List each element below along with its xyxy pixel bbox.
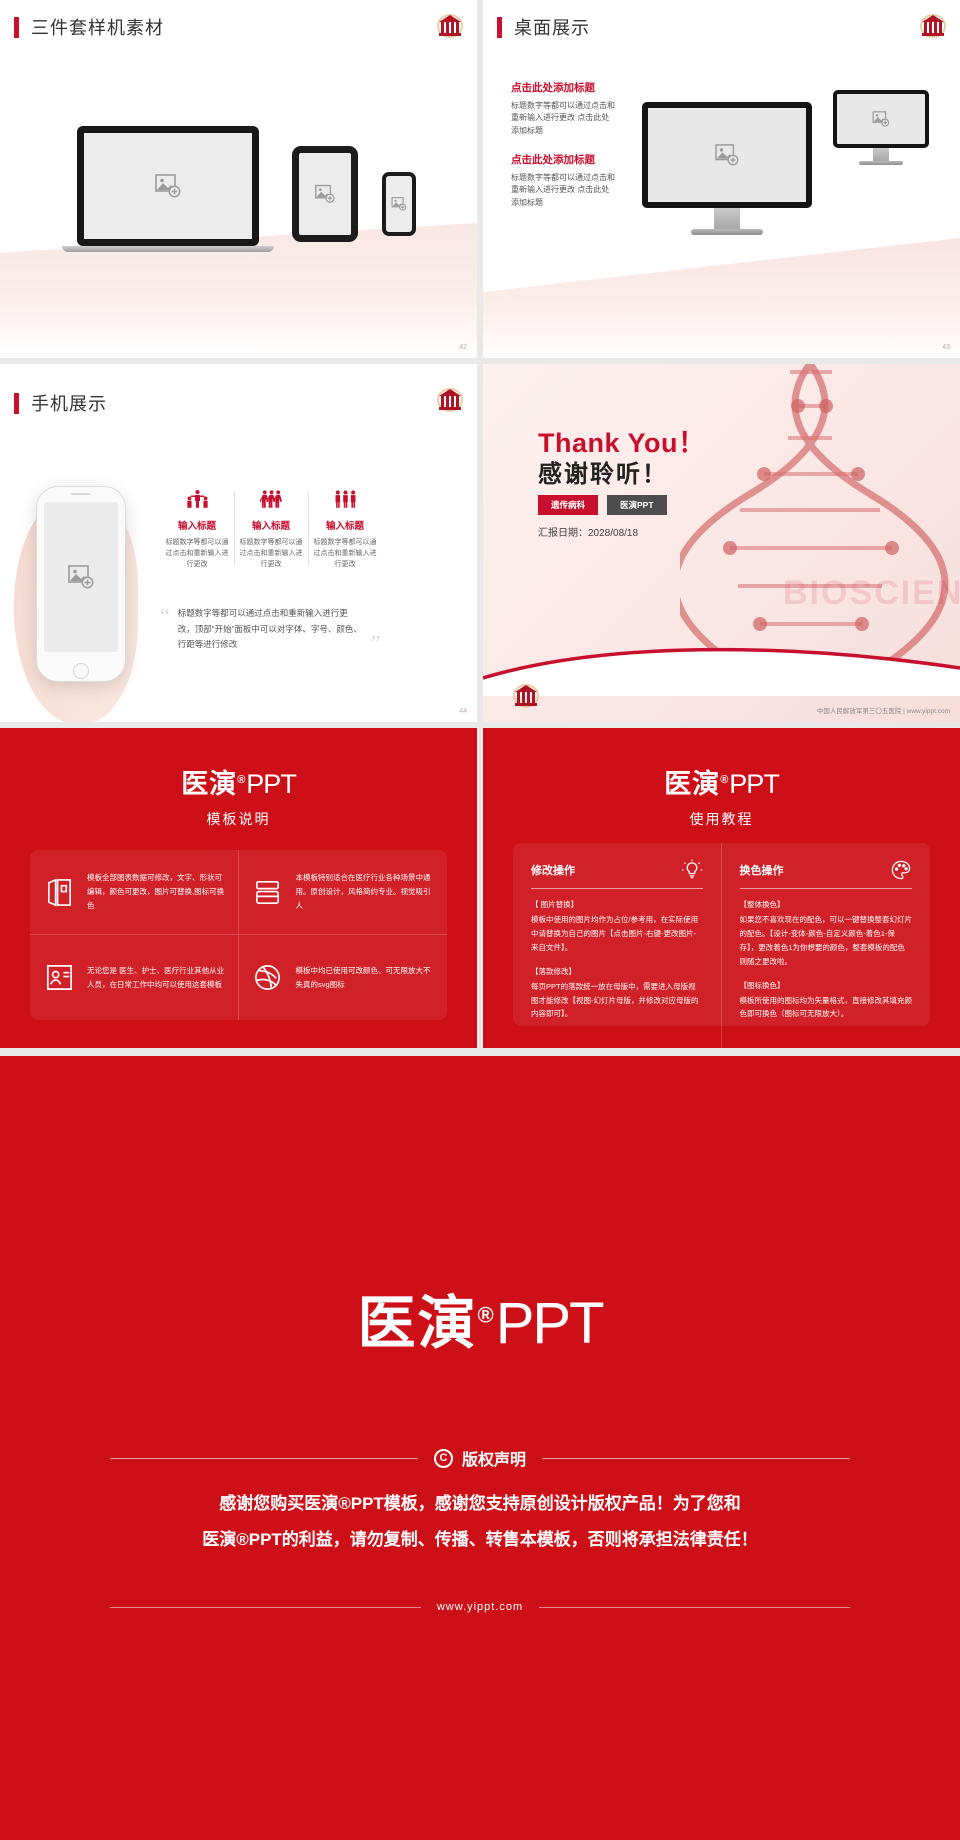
column-divider (531, 888, 703, 889)
brand-ppt: PPT (246, 769, 296, 799)
text-block-heading: 点击此处添加标题 (511, 152, 615, 167)
copyright-badge: C 版权声明 (434, 1446, 526, 1470)
brand-logo-large: 医演®PPT (0, 1276, 960, 1360)
brand-cn: 医演 (181, 769, 237, 799)
title-accent-bar (14, 17, 19, 38)
feature-heading: 输入标题 (312, 518, 378, 532)
tutorial-block: 【 图片替换】 模板中使用的图片均作为占位/参考用，在实际使用中请替换为自己的图… (531, 899, 703, 955)
hospital-emblem-icon (513, 684, 539, 708)
hand-held-phone-mockup (36, 486, 126, 682)
grid-cell-text: 无论您是 医生、护士、医疗行业其他从业人员，在日常工作中均可以使用这套模板 (87, 964, 226, 992)
hospital-emblem-icon (437, 14, 463, 38)
grid-cell-text: 模板全部图表数据可修改，文字、形状可编辑，颜色可更改，图片可替换,图标可换色 (87, 871, 226, 913)
title-accent-bar (497, 17, 502, 38)
page-title: 三件套样机素材 (31, 14, 164, 40)
feature-body: 标题数字等都可以通过点击和重新输入进行更改 (312, 537, 378, 571)
divider-line-right (539, 1607, 850, 1608)
page-title: 手机展示 (31, 390, 107, 416)
slide-thank-you[interactable]: BIOSCIENCE Thank You！ 感谢聆听！ 遗传病科 医演PPT 汇… (483, 364, 960, 722)
divider-line-left (110, 1458, 418, 1459)
three-people-icon (312, 486, 378, 512)
brand-cn: 医演 (357, 1291, 477, 1356)
column-title: 换色操作 (740, 862, 784, 878)
feature-body: 标题数字等都可以通过点击和重新输入进行更改 (164, 537, 230, 571)
feature-body: 标题数字等都可以通过点击和重新输入进行更改 (238, 537, 304, 571)
palette-icon (890, 859, 912, 881)
tutorial-block-body: 如果您不喜欢现在的配色，可以一键替换整套幻灯片的配色。【设计-变体-颜色-自定义… (740, 913, 913, 969)
brand-logo: 医演®PPT (483, 762, 960, 801)
tutorial-columns: 修改操作 【 图片替换】 模板中使用的图片均作为占位/参考用，在实际使用中请替换… (513, 843, 930, 1026)
image-placeholder-icon (392, 197, 407, 211)
grid-cell[interactable]: 本模板特别适合在医疗行业各种场景中通用。原创设计，风格简约专业。视觉吸引人 (239, 850, 448, 935)
drawer-icon (251, 875, 285, 909)
brand-logo: 医演®PPT (0, 762, 477, 801)
page-number: 42 (459, 344, 467, 351)
tutorial-column-recolor[interactable]: 换色操作 【整体换色】 如果您不喜欢现在的配色，可以一键替换整套幻灯片的配色。【… (722, 843, 931, 1048)
bioscience-watermark: BIOSCIENCE (783, 574, 960, 613)
quote-open-mark: “ (160, 606, 170, 626)
tutorial-block-body: 每页PPT的落款统一放在母版中，需要进入母版视图才能修改【视图-幻灯片母版，并修… (531, 980, 703, 1022)
slide-title-group: 桌面展示 (497, 14, 590, 40)
grid-cell[interactable]: 无论您是 医生、护士、医疗行业其他从业人员，在日常工作中均可以使用这套模板 (30, 935, 239, 1020)
slide-phone-showcase[interactable]: 手机展示 输入标题 (0, 364, 477, 722)
copyright-header-row: C 版权声明 (110, 1446, 850, 1470)
website-url[interactable]: www.yippt.com (437, 1601, 523, 1613)
grid-cell[interactable]: 模板中均已使用可改颜色、可无限放大不失真的svg图标 (239, 935, 448, 1020)
slide-usage-tutorial[interactable]: 医演®PPT 使用教程 修改操作 【 图片替换】 模板中使用的图片均作为占位/参… (483, 728, 960, 1048)
image-placeholder-icon (155, 174, 181, 198)
slide-title-group: 三件套样机素材 (14, 14, 164, 40)
brand-registered-mark: ® (477, 1303, 495, 1328)
tutorial-block-title: 【落款修改】 (531, 966, 703, 977)
tutorial-block: 【落款修改】 每页PPT的落款统一放在母版中，需要进入母版视图才能修改【视图-幻… (531, 966, 703, 1022)
home-button-icon (73, 663, 89, 679)
text-block-1: 点击此处添加标题 标题数字等都可以通过点击和重新输入进行更改 点击此处添加标题 (511, 80, 615, 137)
hospital-emblem-icon (437, 388, 463, 412)
brand-registered-mark: ® (237, 774, 246, 786)
people-group-icon (238, 486, 304, 512)
dna-helix-graphic (680, 364, 960, 664)
pink-floor-shape (483, 238, 960, 358)
report-date: 汇报日期：2028/08/18 (538, 524, 638, 539)
brand-ppt: PPT (496, 1291, 603, 1356)
feature-item[interactable]: 输入标题 标题数字等都可以通过点击和重新输入进行更改 (234, 486, 308, 571)
slide-title-group: 手机展示 (14, 390, 107, 416)
copyright-body: 感谢您购买医演®PPT模板，感谢您支持原创设计版权产品！为了您和 医演®PPT的… (120, 1486, 840, 1557)
tag-department[interactable]: 遗传病科 (538, 495, 598, 515)
feature-item[interactable]: 输入标题 标题数字等都可以通过点击和重新输入进行更改 (160, 486, 234, 571)
page-number: 44 (459, 708, 467, 715)
image-placeholder-icon (873, 111, 890, 127)
team-leader-icon (164, 486, 230, 512)
website-row: www.yippt.com (110, 1601, 850, 1613)
image-placeholder-icon (315, 185, 335, 204)
copyright-line-1: 感谢您购买医演®PPT模板，感谢您支持原创设计版权产品！为了您和 (120, 1486, 840, 1522)
tutorial-block-title: 【整体换色】 (740, 899, 913, 910)
slide-desktop-showcase[interactable]: 桌面展示 点击此处添加标题 标题数字等都可以通过点击和重新输入进行更改 点击此处… (483, 0, 960, 358)
page-title: 桌面展示 (514, 14, 590, 40)
column-divider (740, 888, 913, 889)
desktop-monitor-large (642, 102, 812, 235)
text-block-2: 点击此处添加标题 标题数字等都可以通过点击和重新输入进行更改 点击此处添加标题 (511, 152, 615, 209)
tutorial-block: 【图标换色】 模板所使用的图标均为矢量格式，直接修改其填充颜色即可换色（图标可无… (740, 980, 913, 1022)
slide-copyright-statement[interactable]: 医演®PPT C 版权声明 感谢您购买医演®PPT模板，感谢您支持原创设计版权产… (0, 1056, 960, 1840)
divider-line-left (110, 1607, 421, 1608)
slide-footer-note: 中国人民解放军第三〇五医院 | www.yippt.com (817, 705, 950, 715)
brand-ppt: PPT (729, 769, 779, 799)
image-placeholder-icon (715, 144, 739, 166)
lightbulb-icon (681, 859, 703, 881)
feature-heading: 输入标题 (164, 518, 230, 532)
slide-three-device-mockup[interactable]: 三件套样机素材 (0, 0, 477, 358)
copyright-symbol-icon: C (434, 1449, 453, 1468)
slide-subtitle: 模板说明 (0, 809, 477, 829)
quote-close-mark: ” (371, 633, 381, 653)
brand-registered-mark: ® (720, 774, 729, 786)
desktop-monitor-small (833, 90, 929, 165)
book-icon (42, 875, 76, 909)
text-block-body: 标题数字等都可以通过点击和重新输入进行更改 点击此处添加标题 (511, 100, 615, 137)
divider-line-right (542, 1458, 850, 1459)
slide-subtitle: 使用教程 (483, 809, 960, 829)
grid-cell-text: 本模板特别适合在医疗行业各种场景中通用。原创设计，风格简约专业。视觉吸引人 (296, 871, 436, 913)
grid-cell[interactable]: 模板全部图表数据可修改，文字、形状可编辑，颜色可更改，图片可替换,图标可换色 (30, 850, 239, 935)
tag-row: 遗传病科 医演PPT (538, 495, 667, 515)
title-accent-bar (14, 393, 19, 414)
page-number: 43 (942, 344, 950, 351)
tablet-mockup (292, 146, 358, 242)
text-block-body: 标题数字等都可以通过点击和重新输入进行更改 点击此处添加标题 (511, 172, 615, 209)
tutorial-block-title: 【图标换色】 (740, 980, 913, 991)
quote-text: 标题数字等都可以通过点击和重新输入进行更改，顶部“开始”面板中可以对字体、字号、… (178, 606, 363, 653)
slide-template-description[interactable]: 医演®PPT 模板说明 模板全部图表数据可修改，文字、形状可编辑，颜色可更改，图… (0, 728, 477, 1048)
tag-brand[interactable]: 医演PPT (607, 495, 667, 515)
tutorial-block-title: 【 图片替换】 (531, 899, 703, 910)
feature-heading: 输入标题 (238, 518, 304, 532)
quote-block: “ 标题数字等都可以通过点击和重新输入进行更改，顶部“开始”面板中可以对字体、字… (160, 606, 381, 653)
tutorial-block-body: 模板中使用的图片均作为占位/参考用，在实际使用中请替换为自己的图片【点击图片-右… (531, 913, 703, 955)
column-title: 修改操作 (531, 862, 575, 878)
profile-card-icon (42, 961, 76, 995)
brand-cn: 医演 (664, 769, 720, 799)
copyright-badge-label: 版权声明 (462, 1446, 526, 1470)
tutorial-block: 【整体换色】 如果您不喜欢现在的配色，可以一键替换整套幻灯片的配色。【设计-变体… (740, 899, 913, 969)
feature-grid: 模板全部图表数据可修改，文字、形状可编辑，颜色可更改，图片可替换,图标可换色 本… (30, 850, 447, 1020)
tutorial-block-body: 模板所使用的图标均为矢量格式，直接修改其填充颜色即可换色（图标可无限放大）。 (740, 994, 913, 1022)
thank-you-chinese: 感谢聆听！ (538, 454, 668, 489)
feature-item[interactable]: 输入标题 标题数字等都可以通过点击和重新输入进行更改 (308, 486, 382, 571)
grid-cell-text: 模板中均已使用可改颜色、可无限放大不失真的svg图标 (296, 964, 436, 992)
column-header: 换色操作 (740, 859, 913, 881)
text-block-heading: 点击此处添加标题 (511, 80, 615, 95)
column-header: 修改操作 (531, 859, 703, 881)
dribbble-ball-icon (251, 961, 285, 995)
image-placeholder-icon (68, 565, 94, 589)
feature-list: 输入标题 标题数字等都可以通过点击和重新输入进行更改 输入标题 标题数字等都可以… (160, 486, 382, 571)
phone-mockup (382, 172, 416, 236)
red-wave-decoration (483, 638, 960, 696)
laptop-mockup (77, 126, 259, 252)
hospital-emblem-icon (920, 14, 946, 38)
copyright-line-2: 医演®PPT的利益，请勿复制、传播、转售本模板，否则将承担法律责任！ (120, 1522, 840, 1558)
slide-deck-contact-sheet: 三件套样机素材 (0, 0, 960, 1840)
earpiece-speaker-icon (71, 493, 91, 495)
tutorial-column-edit[interactable]: 修改操作 【 图片替换】 模板中使用的图片均作为占位/参考用，在实际使用中请替换… (513, 843, 722, 1048)
